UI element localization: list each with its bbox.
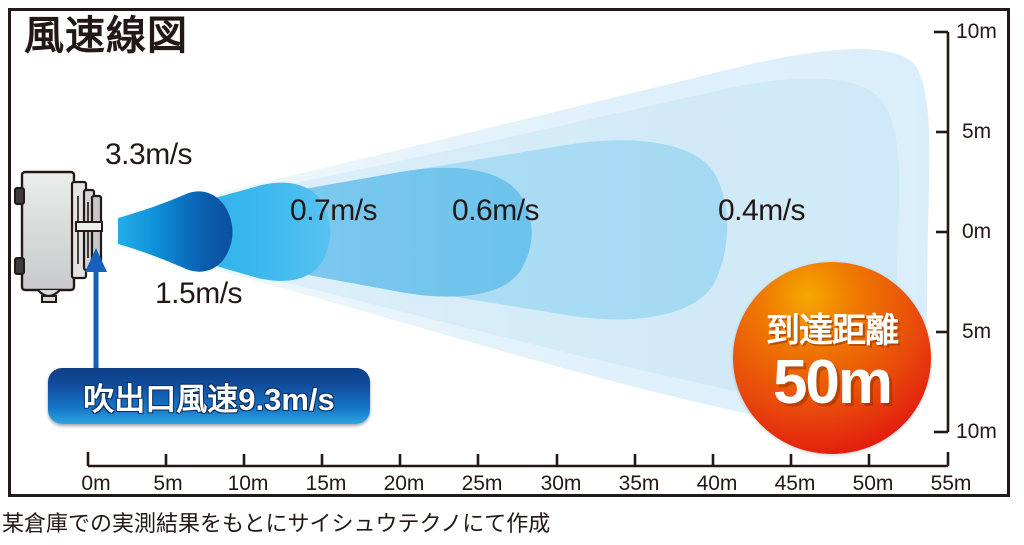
blower-device	[15, 172, 102, 302]
x-tick-50: 50m	[853, 472, 894, 496]
x-tick-30: 30m	[541, 472, 582, 496]
x-tick-40: 40m	[697, 472, 738, 496]
reach-distance-title: 到達距離	[766, 303, 898, 352]
speed-label-0-7: 0.7m/s	[290, 194, 377, 228]
y-tick-top-10: 10m	[956, 20, 997, 44]
y-axis	[934, 32, 948, 432]
outlet-velocity-label: 吹出口風速9.3m/s	[83, 374, 335, 419]
x-tick-45: 45m	[775, 472, 816, 496]
x-tick-55: 55m	[931, 472, 972, 496]
y-tick-bottom-5: 5m	[962, 320, 991, 344]
wind-speed-diagram: 風速線図 3.3m/s 1.5m/s 0.7m/s 0.6m/s 0.4m/s …	[0, 0, 1024, 545]
x-tick-25: 25m	[462, 472, 503, 496]
reach-distance-value: 50m	[773, 354, 891, 413]
x-tick-5: 5m	[153, 472, 182, 496]
callout-connector-arrow	[85, 248, 107, 368]
source-note: 某倉庫での実測結果をもとにサイシュウテクノにて作成	[2, 506, 550, 538]
x-tick-15: 15m	[306, 472, 347, 496]
x-tick-35: 35m	[619, 472, 660, 496]
x-tick-10: 10m	[228, 472, 269, 496]
page-title: 風速線図	[24, 16, 188, 56]
y-tick-zero: 0m	[962, 220, 991, 244]
speed-label-3-3: 3.3m/s	[105, 138, 192, 172]
speed-label-0-6: 0.6m/s	[452, 194, 539, 228]
x-tick-20: 20m	[384, 472, 425, 496]
x-tick-0: 0m	[81, 472, 110, 496]
reach-distance-badge: 到達距離 50m	[733, 262, 931, 454]
speed-label-1-5: 1.5m/s	[155, 277, 242, 311]
plume-band-3-3	[118, 191, 233, 271]
y-tick-top-5: 5m	[962, 120, 991, 144]
outlet-velocity-callout: 吹出口風速9.3m/s	[48, 368, 370, 424]
speed-label-0-4: 0.4m/s	[718, 194, 805, 228]
x-axis	[88, 452, 948, 466]
y-tick-bottom-10: 10m	[956, 420, 997, 444]
